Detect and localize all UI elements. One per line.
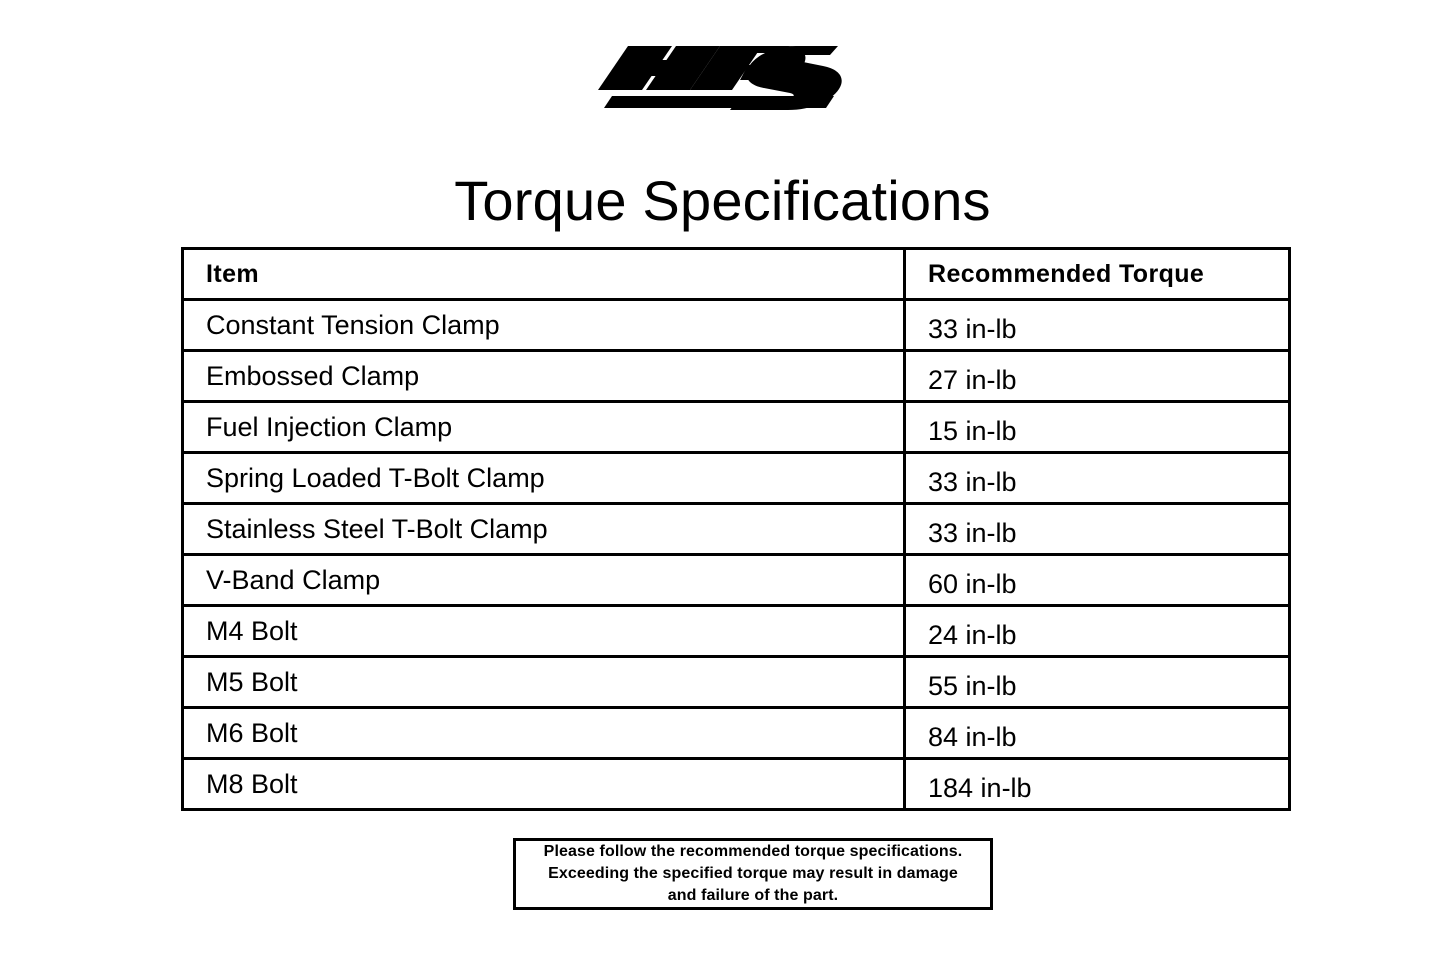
torque-value: 60 in-lb xyxy=(906,569,1017,599)
table-cell-item: M8 Bolt xyxy=(183,759,905,810)
column-header-torque-label: Recommended Torque xyxy=(906,260,1204,288)
torque-spec-table-container: Item Recommended Torque Constant Tension… xyxy=(181,247,1288,811)
table-cell-item: Spring Loaded T-Bolt Clamp xyxy=(183,453,905,504)
table-header: Item Recommended Torque xyxy=(183,249,1290,300)
torque-value: 33 in-lb xyxy=(906,467,1017,497)
table-cell-item: Constant Tension Clamp xyxy=(183,300,905,351)
table-row: Fuel Injection Clamp 15 in-lb xyxy=(183,402,1290,453)
table-header-row: Item Recommended Torque xyxy=(183,249,1290,300)
item-name: Stainless Steel T-Bolt Clamp xyxy=(184,514,548,544)
table-cell-torque: 33 in-lb xyxy=(905,453,1290,504)
table-row: M4 Bolt 24 in-lb xyxy=(183,606,1290,657)
torque-spec-table: Item Recommended Torque Constant Tension… xyxy=(181,247,1291,811)
table-row: M6 Bolt 84 in-lb xyxy=(183,708,1290,759)
column-header-item-label: Item xyxy=(184,260,259,288)
table-row: Spring Loaded T-Bolt Clamp 33 in-lb xyxy=(183,453,1290,504)
item-name: M6 Bolt xyxy=(184,718,298,748)
torque-value: 27 in-lb xyxy=(906,365,1017,395)
table-cell-torque: 15 in-lb xyxy=(905,402,1290,453)
table-cell-torque: 33 in-lb xyxy=(905,300,1290,351)
column-header-item: Item xyxy=(183,249,905,300)
table-cell-torque: 33 in-lb xyxy=(905,504,1290,555)
table-cell-torque: 27 in-lb xyxy=(905,351,1290,402)
torque-value: 15 in-lb xyxy=(906,416,1017,446)
item-name: M4 Bolt xyxy=(184,616,298,646)
table-cell-item: M5 Bolt xyxy=(183,657,905,708)
table-cell-item: V-Band Clamp xyxy=(183,555,905,606)
table-row: M5 Bolt 55 in-lb xyxy=(183,657,1290,708)
torque-value: 184 in-lb xyxy=(906,773,1032,803)
item-name: Constant Tension Clamp xyxy=(184,310,500,340)
footer-warning-box: Please follow the recommended torque spe… xyxy=(513,838,993,910)
item-name: Embossed Clamp xyxy=(184,361,419,391)
torque-value: 33 in-lb xyxy=(906,518,1017,548)
hps-logo xyxy=(590,38,846,110)
table-row: V-Band Clamp 60 in-lb xyxy=(183,555,1290,606)
footer-warning-line-2: Exceeding the specified torque may resul… xyxy=(544,863,963,885)
table-cell-item: Fuel Injection Clamp xyxy=(183,402,905,453)
item-name: V-Band Clamp xyxy=(184,565,380,595)
footer-warning-text: Please follow the recommended torque spe… xyxy=(544,841,963,907)
torque-value: 84 in-lb xyxy=(906,722,1017,752)
footer-warning-line-3: and failure of the part. xyxy=(544,885,963,907)
table-cell-torque: 84 in-lb xyxy=(905,708,1290,759)
footer-warning-line-1: Please follow the recommended torque spe… xyxy=(544,841,963,863)
torque-value: 55 in-lb xyxy=(906,671,1017,701)
table-cell-torque: 55 in-lb xyxy=(905,657,1290,708)
item-name: Spring Loaded T-Bolt Clamp xyxy=(184,463,545,493)
table-body: Constant Tension Clamp 33 in-lb Embossed… xyxy=(183,300,1290,810)
table-cell-torque: 60 in-lb xyxy=(905,555,1290,606)
table-row: Stainless Steel T-Bolt Clamp 33 in-lb xyxy=(183,504,1290,555)
table-row: Constant Tension Clamp 33 in-lb xyxy=(183,300,1290,351)
table-cell-torque: 24 in-lb xyxy=(905,606,1290,657)
table-row: Embossed Clamp 27 in-lb xyxy=(183,351,1290,402)
column-header-torque: Recommended Torque xyxy=(905,249,1290,300)
torque-value: 33 in-lb xyxy=(906,314,1017,344)
item-name: M5 Bolt xyxy=(184,667,298,697)
page-title: Torque Specifications xyxy=(0,168,1445,234)
table-cell-item: Stainless Steel T-Bolt Clamp xyxy=(183,504,905,555)
table-cell-item: M6 Bolt xyxy=(183,708,905,759)
table-row: M8 Bolt 184 in-lb xyxy=(183,759,1290,810)
hps-logo-icon xyxy=(590,38,846,110)
table-cell-item: Embossed Clamp xyxy=(183,351,905,402)
item-name: M8 Bolt xyxy=(184,769,298,799)
table-cell-item: M4 Bolt xyxy=(183,606,905,657)
table-cell-torque: 184 in-lb xyxy=(905,759,1290,810)
item-name: Fuel Injection Clamp xyxy=(184,412,452,442)
torque-value: 24 in-lb xyxy=(906,620,1017,650)
